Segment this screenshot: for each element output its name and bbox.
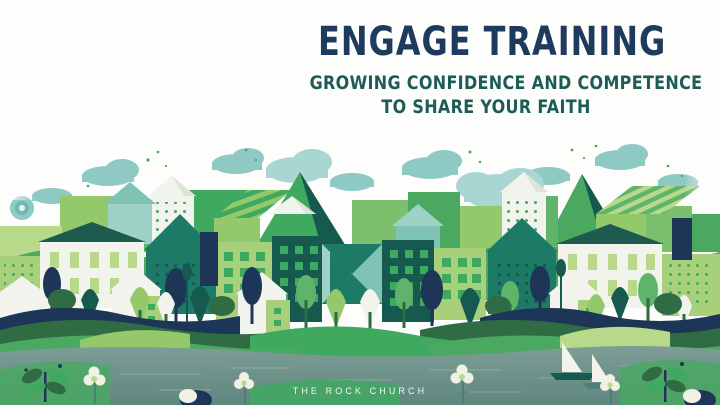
navy-slab — [200, 232, 218, 286]
slide-canvas: ENGAGE TRAINING GROWING CONFIDENCE AND C… — [0, 0, 720, 405]
cityscape-illustration — [0, 0, 720, 405]
navy-slab-right — [672, 218, 692, 260]
